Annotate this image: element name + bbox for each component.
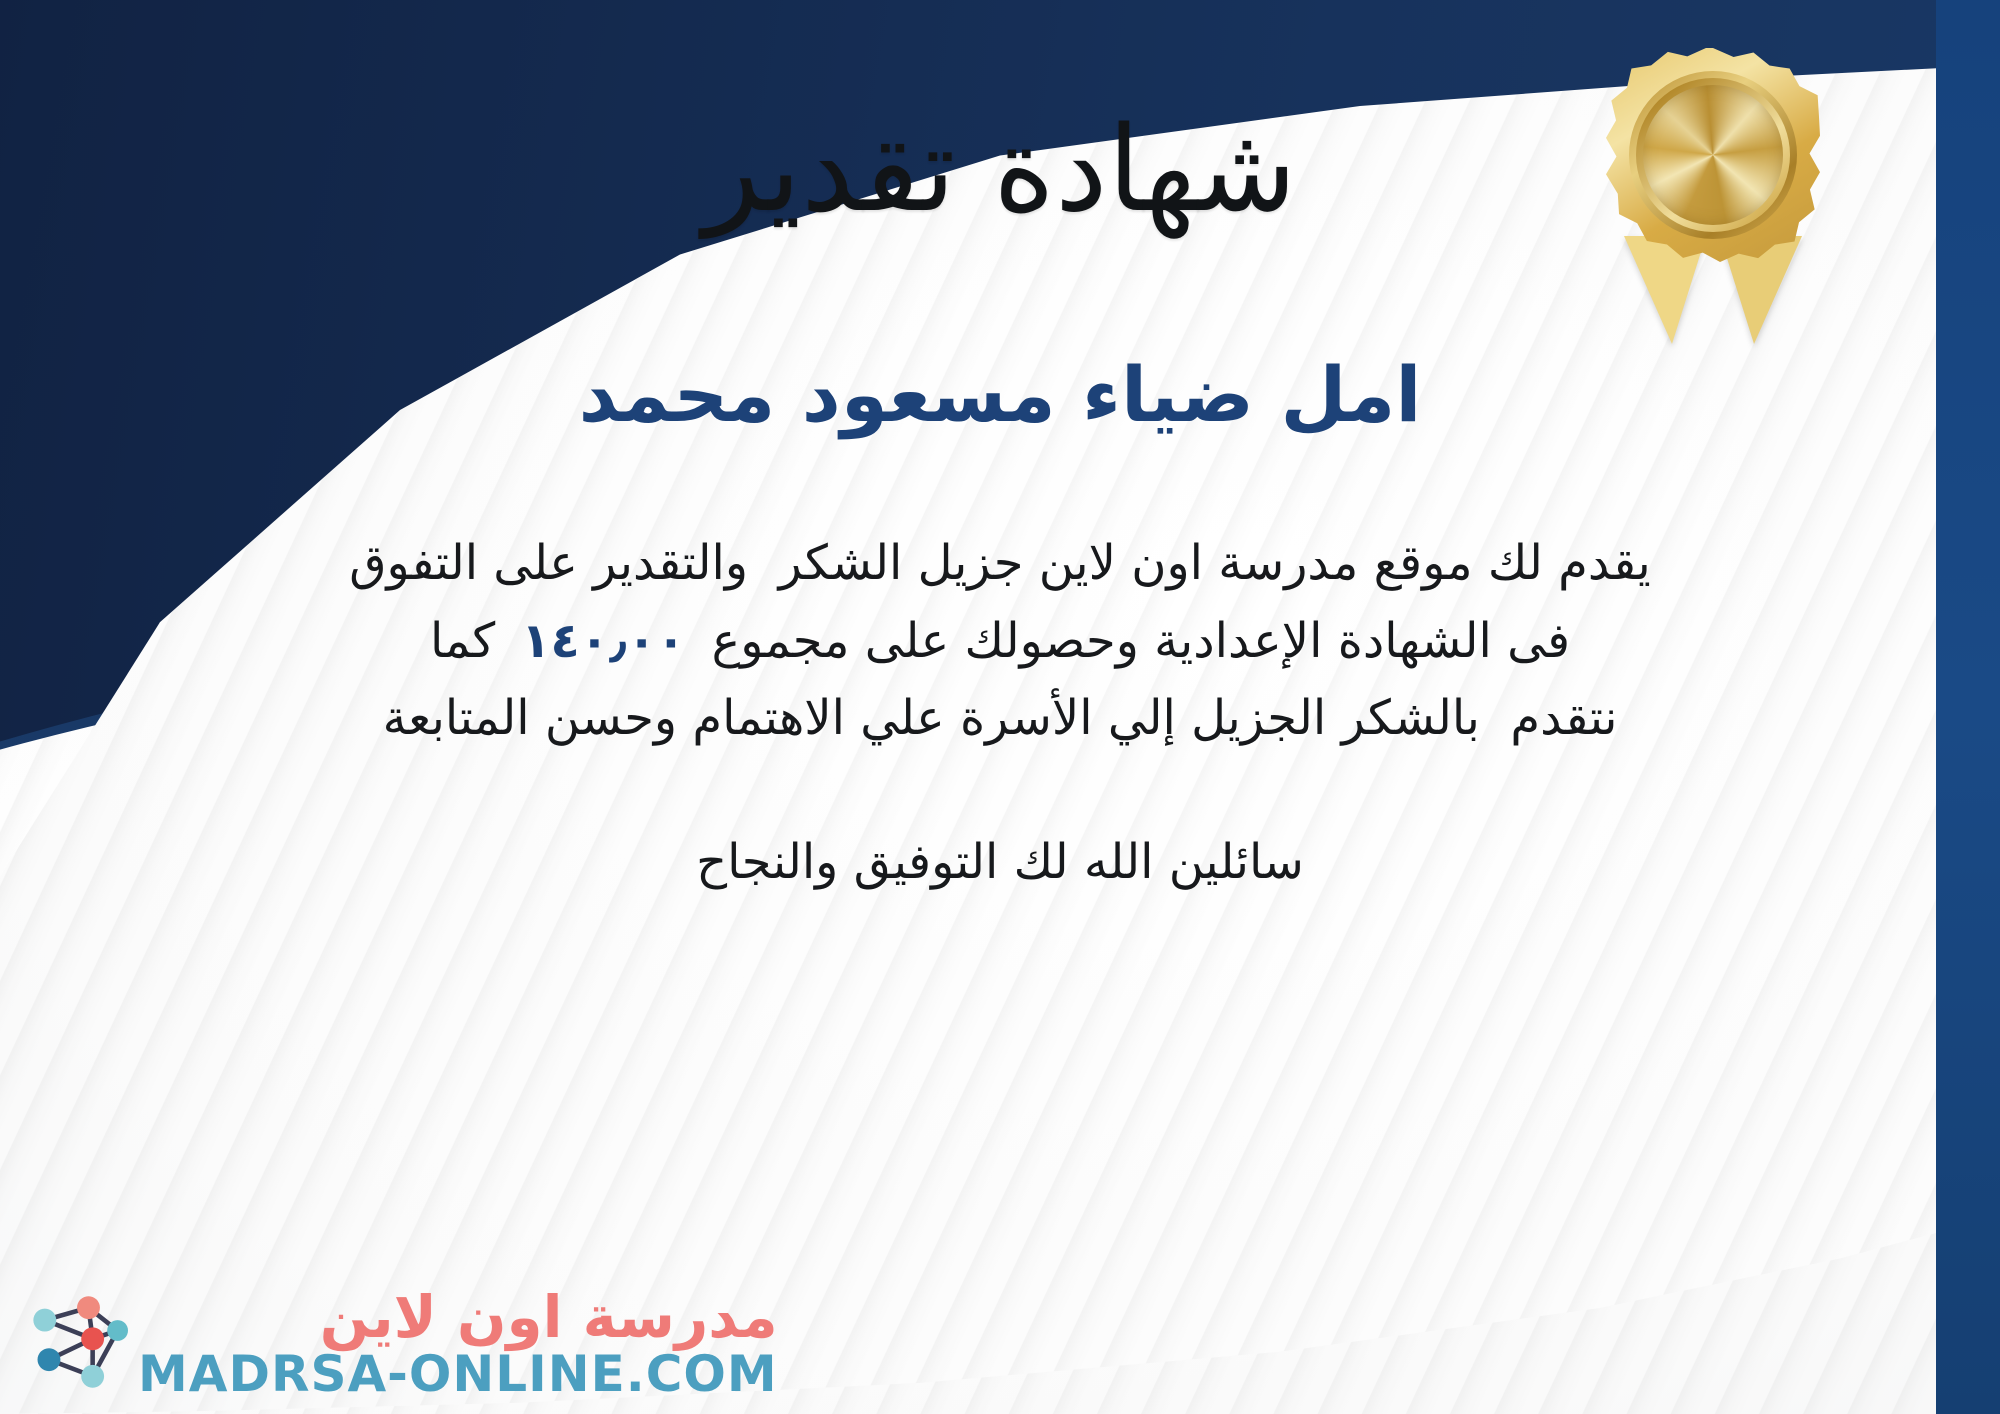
network-nodes-icon	[24, 1291, 128, 1395]
body-line-2-text-before: فى الشهادة الإعدادية وحصولك على مجموع	[712, 613, 1570, 669]
body-line-3: نتقدم بالشكر الجزيل إلي الأسرة علي الاهت…	[220, 680, 1780, 758]
network-node-teal-light	[33, 1309, 56, 1332]
network-node-teal-light-2	[81, 1365, 104, 1388]
recipient-name: امل ضياء مسعود محمد	[579, 350, 1422, 439]
brand-logo-text: مدرسة اون لاين MADRSA-ONLINE.COM	[138, 1287, 778, 1400]
brand-name-arabic: مدرسة اون لاين	[320, 1287, 778, 1348]
closing-line: سائلين الله لك التوفيق والنجاح	[696, 834, 1304, 890]
certificate-title: شهادة تقدير	[703, 108, 1297, 232]
certificate-body: يقدم لك موقع مدرسة اون لاين جزيل الشكر و…	[220, 525, 1780, 758]
certificate-document: شهادة تقدير امل ضياء مسعود محمد يقدم لك …	[0, 0, 2000, 1414]
body-line-2-text-after: كما	[430, 613, 495, 669]
body-line-1: يقدم لك موقع مدرسة اون لاين جزيل الشكر و…	[220, 525, 1780, 603]
network-node-red	[81, 1328, 104, 1351]
body-line-2: فى الشهادة الإعدادية وحصولك على مجموع١٤٠…	[220, 603, 1780, 681]
brand-logo[interactable]: مدرسة اون لاين MADRSA-ONLINE.COM	[24, 1287, 778, 1400]
network-node-blue	[38, 1348, 61, 1371]
certificate-content: شهادة تقدير امل ضياء مسعود محمد يقدم لك …	[0, 0, 2000, 1414]
brand-domain: MADRSA-ONLINE.COM	[138, 1348, 778, 1401]
grade-total-value: ١٤٠٫٠٠	[495, 613, 711, 669]
network-node-salmon	[77, 1296, 100, 1319]
network-node-teal	[107, 1320, 128, 1341]
